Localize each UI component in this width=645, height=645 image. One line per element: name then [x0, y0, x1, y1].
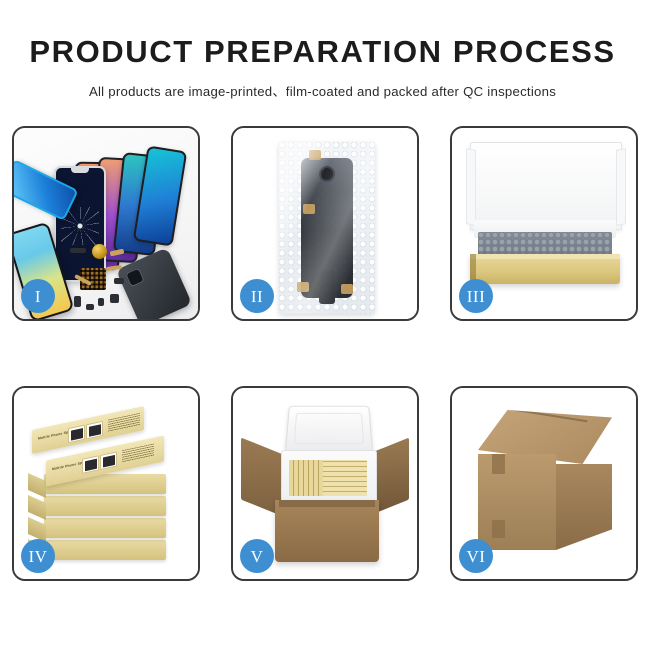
step-badge-3: III: [459, 279, 493, 313]
carton-body: [275, 500, 379, 562]
spare-part: [110, 294, 119, 303]
process-step-3: III: [450, 126, 638, 321]
spare-part: [74, 296, 81, 307]
spare-part: [98, 298, 104, 306]
carton-front-face: [478, 454, 556, 550]
spare-part: [70, 248, 86, 253]
bubble-wrap-bag: [279, 142, 375, 314]
packed-kraft-boxes: [289, 460, 367, 496]
process-step-5: V: [231, 386, 419, 581]
process-step-1: I: [12, 126, 200, 321]
page-title: PRODUCT PREPARATION PROCESS: [0, 0, 645, 69]
carton-tape-lower: [492, 520, 505, 538]
stacked-box: [44, 496, 166, 516]
process-step-grid: I II: [12, 126, 633, 581]
stacked-box: [44, 518, 166, 538]
white-foam-liner: [470, 142, 622, 230]
foam-cooler-lid: [285, 406, 373, 453]
spare-part: [114, 278, 124, 284]
kraft-box-base: [470, 254, 620, 284]
plastic-sheen: [279, 142, 375, 314]
carton-tape-upper: [492, 454, 505, 474]
process-step-4: Mobile Phone Spare Parts Mobile Phone Sp…: [12, 386, 200, 581]
speaker-coil-part: [92, 244, 107, 259]
page-subtitle: All products are image-printed、film-coat…: [0, 69, 645, 100]
step-badge-4: IV: [21, 539, 55, 573]
stacked-box: [44, 540, 166, 560]
product-preparation-infographic: PRODUCT PREPARATION PROCESS All products…: [0, 0, 645, 645]
step-badge-5: V: [240, 539, 274, 573]
header: PRODUCT PREPARATION PROCESS All products…: [0, 0, 645, 100]
step-badge-6: VI: [459, 539, 493, 573]
spare-part: [86, 304, 94, 310]
step-badge-1: I: [21, 279, 55, 313]
step-badge-2: II: [240, 279, 274, 313]
carton-side-face: [556, 464, 612, 550]
process-step-2: II: [231, 126, 419, 321]
process-step-6: VI: [450, 386, 638, 581]
